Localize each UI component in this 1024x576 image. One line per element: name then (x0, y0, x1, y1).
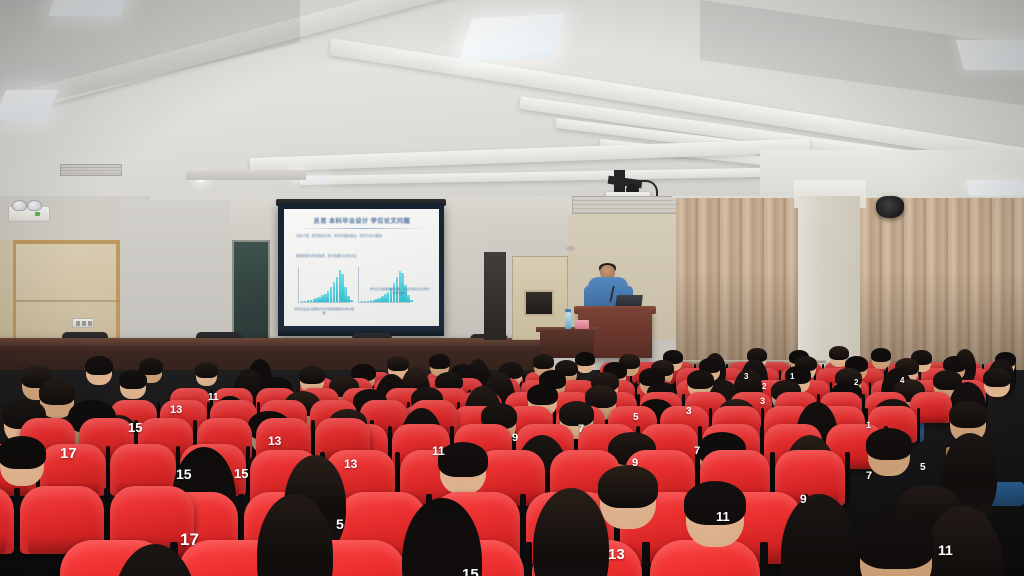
hair (119, 370, 147, 389)
seat-number: 9 (512, 432, 518, 444)
hair (598, 465, 658, 507)
seat-number: 11 (208, 392, 219, 403)
hair (866, 428, 911, 460)
hair (781, 494, 858, 576)
hair (195, 362, 218, 378)
ceiling-light-panel (458, 14, 565, 63)
slide-title: 反思 本科毕业设计 学位论文问题 (294, 216, 430, 225)
curtain-shading (676, 198, 801, 374)
seat-number: 5 (336, 516, 344, 532)
air-vent-ceiling (60, 164, 122, 176)
seat-number: 17 (180, 530, 199, 550)
audience-member (948, 436, 992, 482)
slide-histogram-right (358, 267, 410, 303)
audience-member (196, 364, 217, 386)
ceiling-beam (300, 167, 800, 185)
hair (857, 514, 935, 569)
seat-number: 3 (686, 406, 692, 417)
seat-number: 15 (128, 420, 142, 435)
seat-number: 13 (170, 404, 182, 416)
light-switch-panel[interactable] (72, 318, 94, 328)
seat-number: 7 (578, 423, 584, 435)
ceiling-light-panel (966, 180, 1024, 196)
hair (871, 348, 890, 362)
slide-body-line-2: 数据来源与样本描述、统计结果与分析讨论 (296, 254, 357, 258)
lecture-hall-photo: 反思 本科毕业设计 学位论文问题 背景介绍、研究现状分析、研究问题的提出、研究方… (0, 0, 1024, 576)
audience-member (868, 432, 910, 476)
audience-member (86, 358, 112, 385)
slide-title-underline (298, 228, 426, 229)
seat-number: 3 (760, 396, 765, 406)
audience-member (788, 498, 850, 563)
audience-member (120, 372, 146, 399)
hair (559, 401, 595, 426)
wall-speaker (876, 196, 904, 218)
head-table-top (0, 338, 546, 346)
seat-number: 2 (762, 382, 766, 391)
smoke-detector (566, 246, 575, 251)
water-bottle (565, 312, 571, 329)
green-chalkboard (232, 240, 270, 344)
wall-air-vent (572, 196, 684, 214)
audience-member (440, 446, 486, 494)
seat-number: 13 (608, 546, 625, 563)
ceiling-light-panel (48, 0, 127, 16)
seat-number: 1 (790, 372, 794, 381)
doorway[interactable] (484, 252, 506, 340)
seat-number: 9 (632, 457, 638, 469)
ceiling-trim-strip (186, 170, 306, 180)
histogram-bar (350, 300, 352, 302)
hair (438, 442, 488, 477)
seat-number: 1 (866, 420, 871, 430)
hair (949, 401, 988, 428)
hair (429, 354, 450, 368)
seat-number: 15 (234, 466, 248, 481)
hair (0, 436, 46, 469)
seat-gap (917, 408, 920, 443)
cabinet-opening (524, 290, 554, 316)
audience-member (860, 520, 932, 576)
desk-item (575, 320, 589, 329)
audience-member (120, 548, 190, 576)
seat-gap (524, 542, 532, 576)
emergency-light (8, 206, 50, 222)
audience-member (984, 370, 1010, 397)
seat-number: 5 (920, 462, 926, 473)
hair (257, 494, 334, 576)
seat-gap (642, 542, 650, 576)
ceiling-light-panel (0, 90, 58, 120)
panel-seam (0, 300, 120, 302)
ceiling (0, 0, 1024, 215)
audience-member (576, 354, 594, 373)
histogram-bar (410, 300, 412, 302)
seat-number: 2 (854, 378, 858, 387)
hair (39, 379, 76, 405)
hair (533, 354, 554, 368)
slide-caption-left: 本科毕业设计选题分布与完成质量评价统计结果 (293, 307, 355, 315)
seat-gap (760, 542, 768, 576)
seat-number: 4 (900, 376, 904, 385)
slide-body-line-1: 背景介绍、研究现状分析、研究问题的提出、研究方法与路径 (296, 234, 382, 238)
audience-member (540, 492, 602, 557)
audience-member (410, 502, 474, 569)
ceiling-beam (250, 138, 810, 172)
hair (299, 366, 325, 384)
hair (402, 498, 481, 576)
seat-number: 7 (694, 445, 700, 457)
seat-number: 9 (800, 492, 807, 506)
hair (533, 488, 610, 576)
audience-member (600, 470, 656, 529)
slide-caption-right: 学位论文质量抽检结果：存在问题论文比例分布情况统计 (369, 287, 431, 295)
hair (85, 356, 113, 375)
seat-number: 5 (633, 412, 639, 423)
hair (983, 368, 1011, 387)
seat-number: 7 (866, 470, 872, 482)
seat-number: 15 (462, 566, 479, 576)
slide-histogram-left (298, 267, 350, 303)
audience-member (264, 498, 326, 563)
seat-number: 11 (716, 509, 730, 524)
hair (527, 384, 558, 406)
audience-member (0, 440, 44, 486)
seat-number: 3 (744, 372, 748, 381)
hair (575, 352, 594, 366)
projection-screen: 反思 本科毕业设计 学位论文问题 背景介绍、研究现状分析、研究问题的提出、研究方… (284, 209, 439, 326)
hair (684, 481, 747, 525)
audience-member (686, 486, 744, 547)
seat-number: 13 (344, 457, 357, 471)
seat-number: 15 (176, 466, 192, 482)
ceiling-light-panel (956, 40, 1024, 70)
seat-number: 13 (268, 434, 281, 448)
seat-number: 11 (938, 542, 953, 558)
wall-section-left-of-cabinet (444, 216, 488, 340)
structural-column (798, 196, 860, 374)
seat-number: 17 (60, 445, 77, 462)
audience-member (872, 350, 890, 369)
seat-number: 11 (432, 444, 445, 458)
